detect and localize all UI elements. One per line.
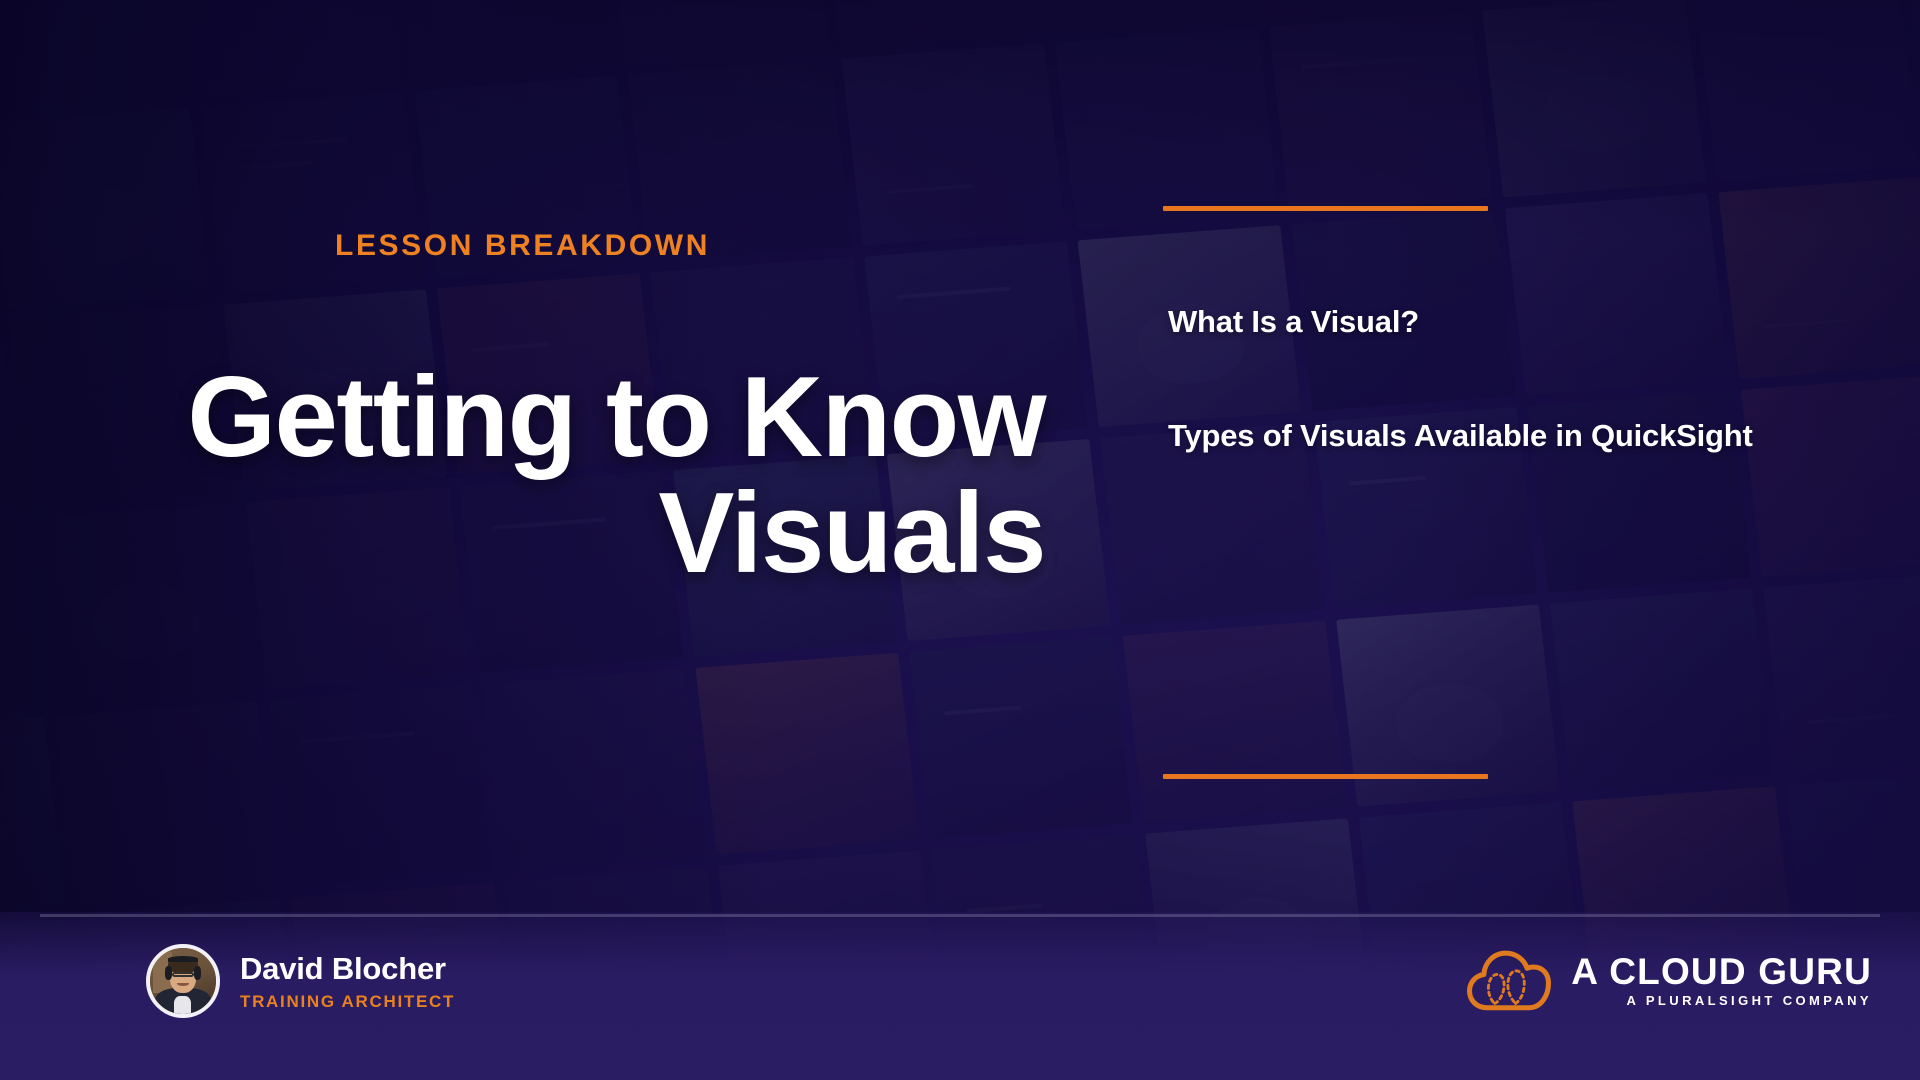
lesson-breakdown-eyebrow: LESSON BREAKDOWN <box>0 229 1045 263</box>
cloud-icon <box>1467 948 1551 1012</box>
footer-divider <box>40 914 1880 917</box>
brand-tagline: A PLURALSIGHT COMPANY <box>1627 994 1872 1007</box>
presenter-role: TRAINING ARCHITECT <box>240 992 455 1012</box>
presenter-name: David Blocher <box>240 951 455 987</box>
presentation-slide: LESSON BREAKDOWN Getting to Know Visuals… <box>0 0 1920 1080</box>
breakdown-rule-top <box>1163 206 1488 211</box>
breakdown-item-1: Types of Visuals Available in QuickSight <box>1168 418 1753 454</box>
breakdown-panel <box>1163 206 1488 211</box>
brand-name: A CLOUD GURU <box>1571 953 1872 990</box>
avatar <box>146 944 220 1018</box>
breakdown-item-0: What Is a Visual? <box>1168 304 1419 340</box>
brand-logo: A CLOUD GURU A PLURALSIGHT COMPANY <box>1467 948 1872 1012</box>
presenter-block: David Blocher TRAINING ARCHITECT <box>146 944 455 1018</box>
page-title: Getting to Know Visuals <box>120 360 1045 593</box>
breakdown-rule-bottom <box>1163 774 1488 779</box>
